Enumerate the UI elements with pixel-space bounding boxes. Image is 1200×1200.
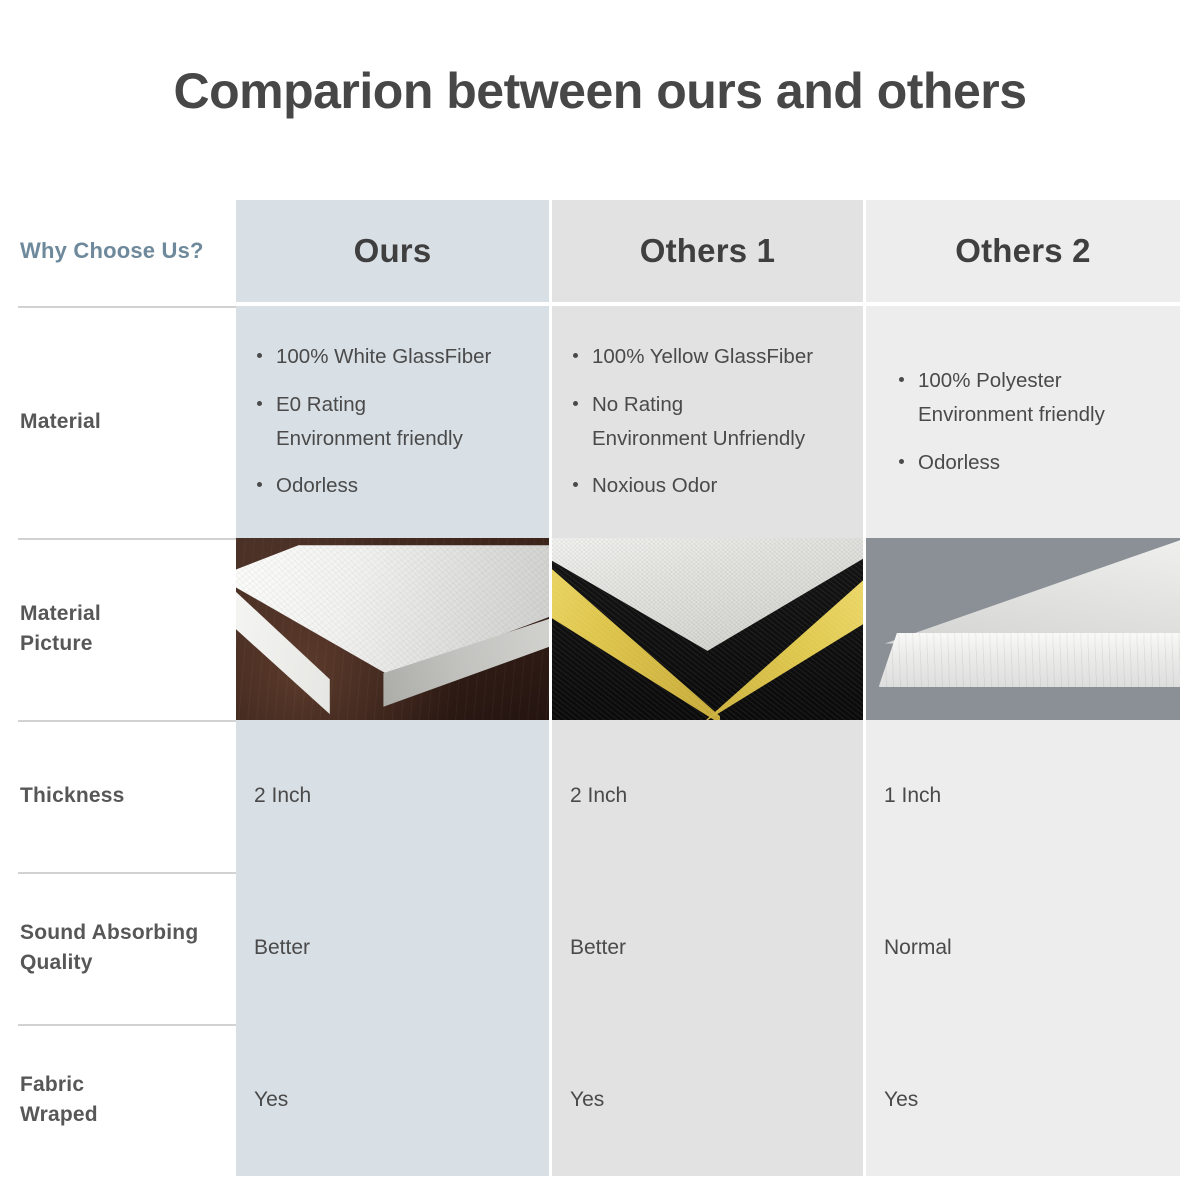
row-separator <box>18 306 236 308</box>
value-text: 2 Inch <box>570 781 627 810</box>
row-label-thickness-text: Thickness <box>20 781 125 811</box>
label-line-1: Sound Absorbing <box>20 921 198 944</box>
label-line-2: Quality <box>20 951 93 974</box>
row-separator <box>18 872 236 874</box>
cell-picture-ours <box>236 538 549 720</box>
table-row-sound-absorbing-quality: Sound Absorbing Quality Better Better No… <box>0 872 1200 1024</box>
cell-thickness-others1: 2 Inch <box>552 720 863 872</box>
list-item: No Rating Environment Unfriendly <box>570 388 845 457</box>
list-item: 100% White GlassFiber <box>254 340 531 374</box>
material-others2-list: 100% Polyester Environment friendly Odor… <box>896 364 1162 480</box>
cell-fabric-ours: Yes <box>236 1024 549 1176</box>
yellow-glassfiber-board-image <box>552 538 863 720</box>
cell-thickness-ours: 2 Inch <box>236 720 549 872</box>
list-item: 100% Yellow GlassFiber <box>570 340 845 374</box>
bullet-line: E0 Rating <box>276 388 531 422</box>
cell-sound-others2: Normal <box>866 872 1180 1024</box>
bullet-line: Environment friendly <box>276 422 531 456</box>
white-glassfiber-board-image <box>236 538 549 720</box>
bullet-line: Environment Unfriendly <box>592 422 845 456</box>
cell-picture-others1 <box>552 538 863 720</box>
board-edge-texture <box>879 633 1180 688</box>
row-label-material-text: Material <box>20 407 101 437</box>
value-text: Yes <box>570 1085 604 1114</box>
value-text: Yes <box>884 1085 918 1114</box>
row-label-sound-absorbing-quality-text: Sound Absorbing Quality <box>20 918 198 979</box>
label-line-1: Fabric <box>20 1073 84 1096</box>
page-title: Comparion between ours and others <box>0 62 1200 120</box>
value-text: 2 Inch <box>254 781 311 810</box>
bullet-line: Odorless <box>918 446 1162 480</box>
cell-sound-others1: Better <box>552 872 863 1024</box>
table-header-row: Why Choose Us? Ours Others 1 Others 2 <box>0 200 1200 302</box>
row-label-material-picture: Material Picture <box>0 538 236 720</box>
column-header-others1: Others 1 <box>552 200 863 302</box>
row-label-fabric-wraped-text: Fabric Wraped <box>20 1070 98 1131</box>
row-label-material-picture-text: Material Picture <box>20 599 101 660</box>
bullet-line: 100% White GlassFiber <box>276 340 531 374</box>
label-line-2: Wraped <box>20 1103 98 1126</box>
row-label-sound-absorbing-quality: Sound Absorbing Quality <box>0 872 236 1024</box>
bullet-line: Environment friendly <box>918 398 1162 432</box>
material-others1-list: 100% Yellow GlassFiber No Rating Environ… <box>570 340 845 504</box>
list-item: Odorless <box>254 469 531 503</box>
bullet-line: Odorless <box>276 469 531 503</box>
row-label-thickness: Thickness <box>0 720 236 872</box>
value-text: Better <box>570 933 626 962</box>
bullet-line: 100% Polyester <box>918 364 1162 398</box>
cell-sound-ours: Better <box>236 872 549 1024</box>
table-row-fabric-wraped: Fabric Wraped Yes Yes Yes <box>0 1024 1200 1176</box>
comparison-table: Why Choose Us? Ours Others 1 Others 2 Ma… <box>0 200 1200 1176</box>
why-choose-us-label: Why Choose Us? <box>20 238 204 264</box>
cell-fabric-others1: Yes <box>552 1024 863 1176</box>
bullet-line: No Rating <box>592 388 845 422</box>
list-item: 100% Polyester Environment friendly <box>896 364 1162 433</box>
cell-thickness-others2: 1 Inch <box>866 720 1180 872</box>
value-text: Yes <box>254 1085 288 1114</box>
cell-material-ours: 100% White GlassFiber E0 Rating Environm… <box>236 306 549 538</box>
bullet-line: 100% Yellow GlassFiber <box>592 340 845 374</box>
value-text: Normal <box>884 933 952 962</box>
label-line-2: Picture <box>20 632 93 655</box>
row-label-fabric-wraped: Fabric Wraped <box>0 1024 236 1176</box>
column-header-others2-label: Others 2 <box>955 232 1091 270</box>
list-item: Noxious Odor <box>570 469 845 503</box>
comparison-infographic: Comparion between ours and others Why Ch… <box>0 0 1200 1200</box>
table-row-material: Material 100% White GlassFiber E0 Rating… <box>0 306 1200 538</box>
column-header-others1-label: Others 1 <box>640 232 776 270</box>
bullet-line: Noxious Odor <box>592 469 845 503</box>
row-separator <box>18 720 236 722</box>
column-header-ours: Ours <box>236 200 549 302</box>
column-header-ours-label: Ours <box>354 232 432 270</box>
header-label-cell: Why Choose Us? <box>0 200 236 302</box>
row-label-material: Material <box>0 306 236 538</box>
label-line-1: Material <box>20 602 101 625</box>
cell-fabric-others2: Yes <box>866 1024 1180 1176</box>
cell-material-others2: 100% Polyester Environment friendly Odor… <box>866 306 1180 538</box>
table-row-thickness: Thickness 2 Inch 2 Inch 1 Inch <box>0 720 1200 872</box>
value-text: 1 Inch <box>884 781 941 810</box>
row-separator <box>18 1024 236 1026</box>
cell-picture-others2 <box>866 538 1180 720</box>
polyester-board-image <box>866 538 1180 720</box>
column-header-others2: Others 2 <box>866 200 1180 302</box>
material-ours-list: 100% White GlassFiber E0 Rating Environm… <box>254 340 531 504</box>
list-item: Odorless <box>896 446 1162 480</box>
table-row-material-picture: Material Picture <box>0 538 1200 720</box>
value-text: Better <box>254 933 310 962</box>
board-top-face <box>885 538 1180 644</box>
cell-material-others1: 100% Yellow GlassFiber No Rating Environ… <box>552 306 863 538</box>
row-separator <box>18 538 236 540</box>
list-item: E0 Rating Environment friendly <box>254 388 531 457</box>
